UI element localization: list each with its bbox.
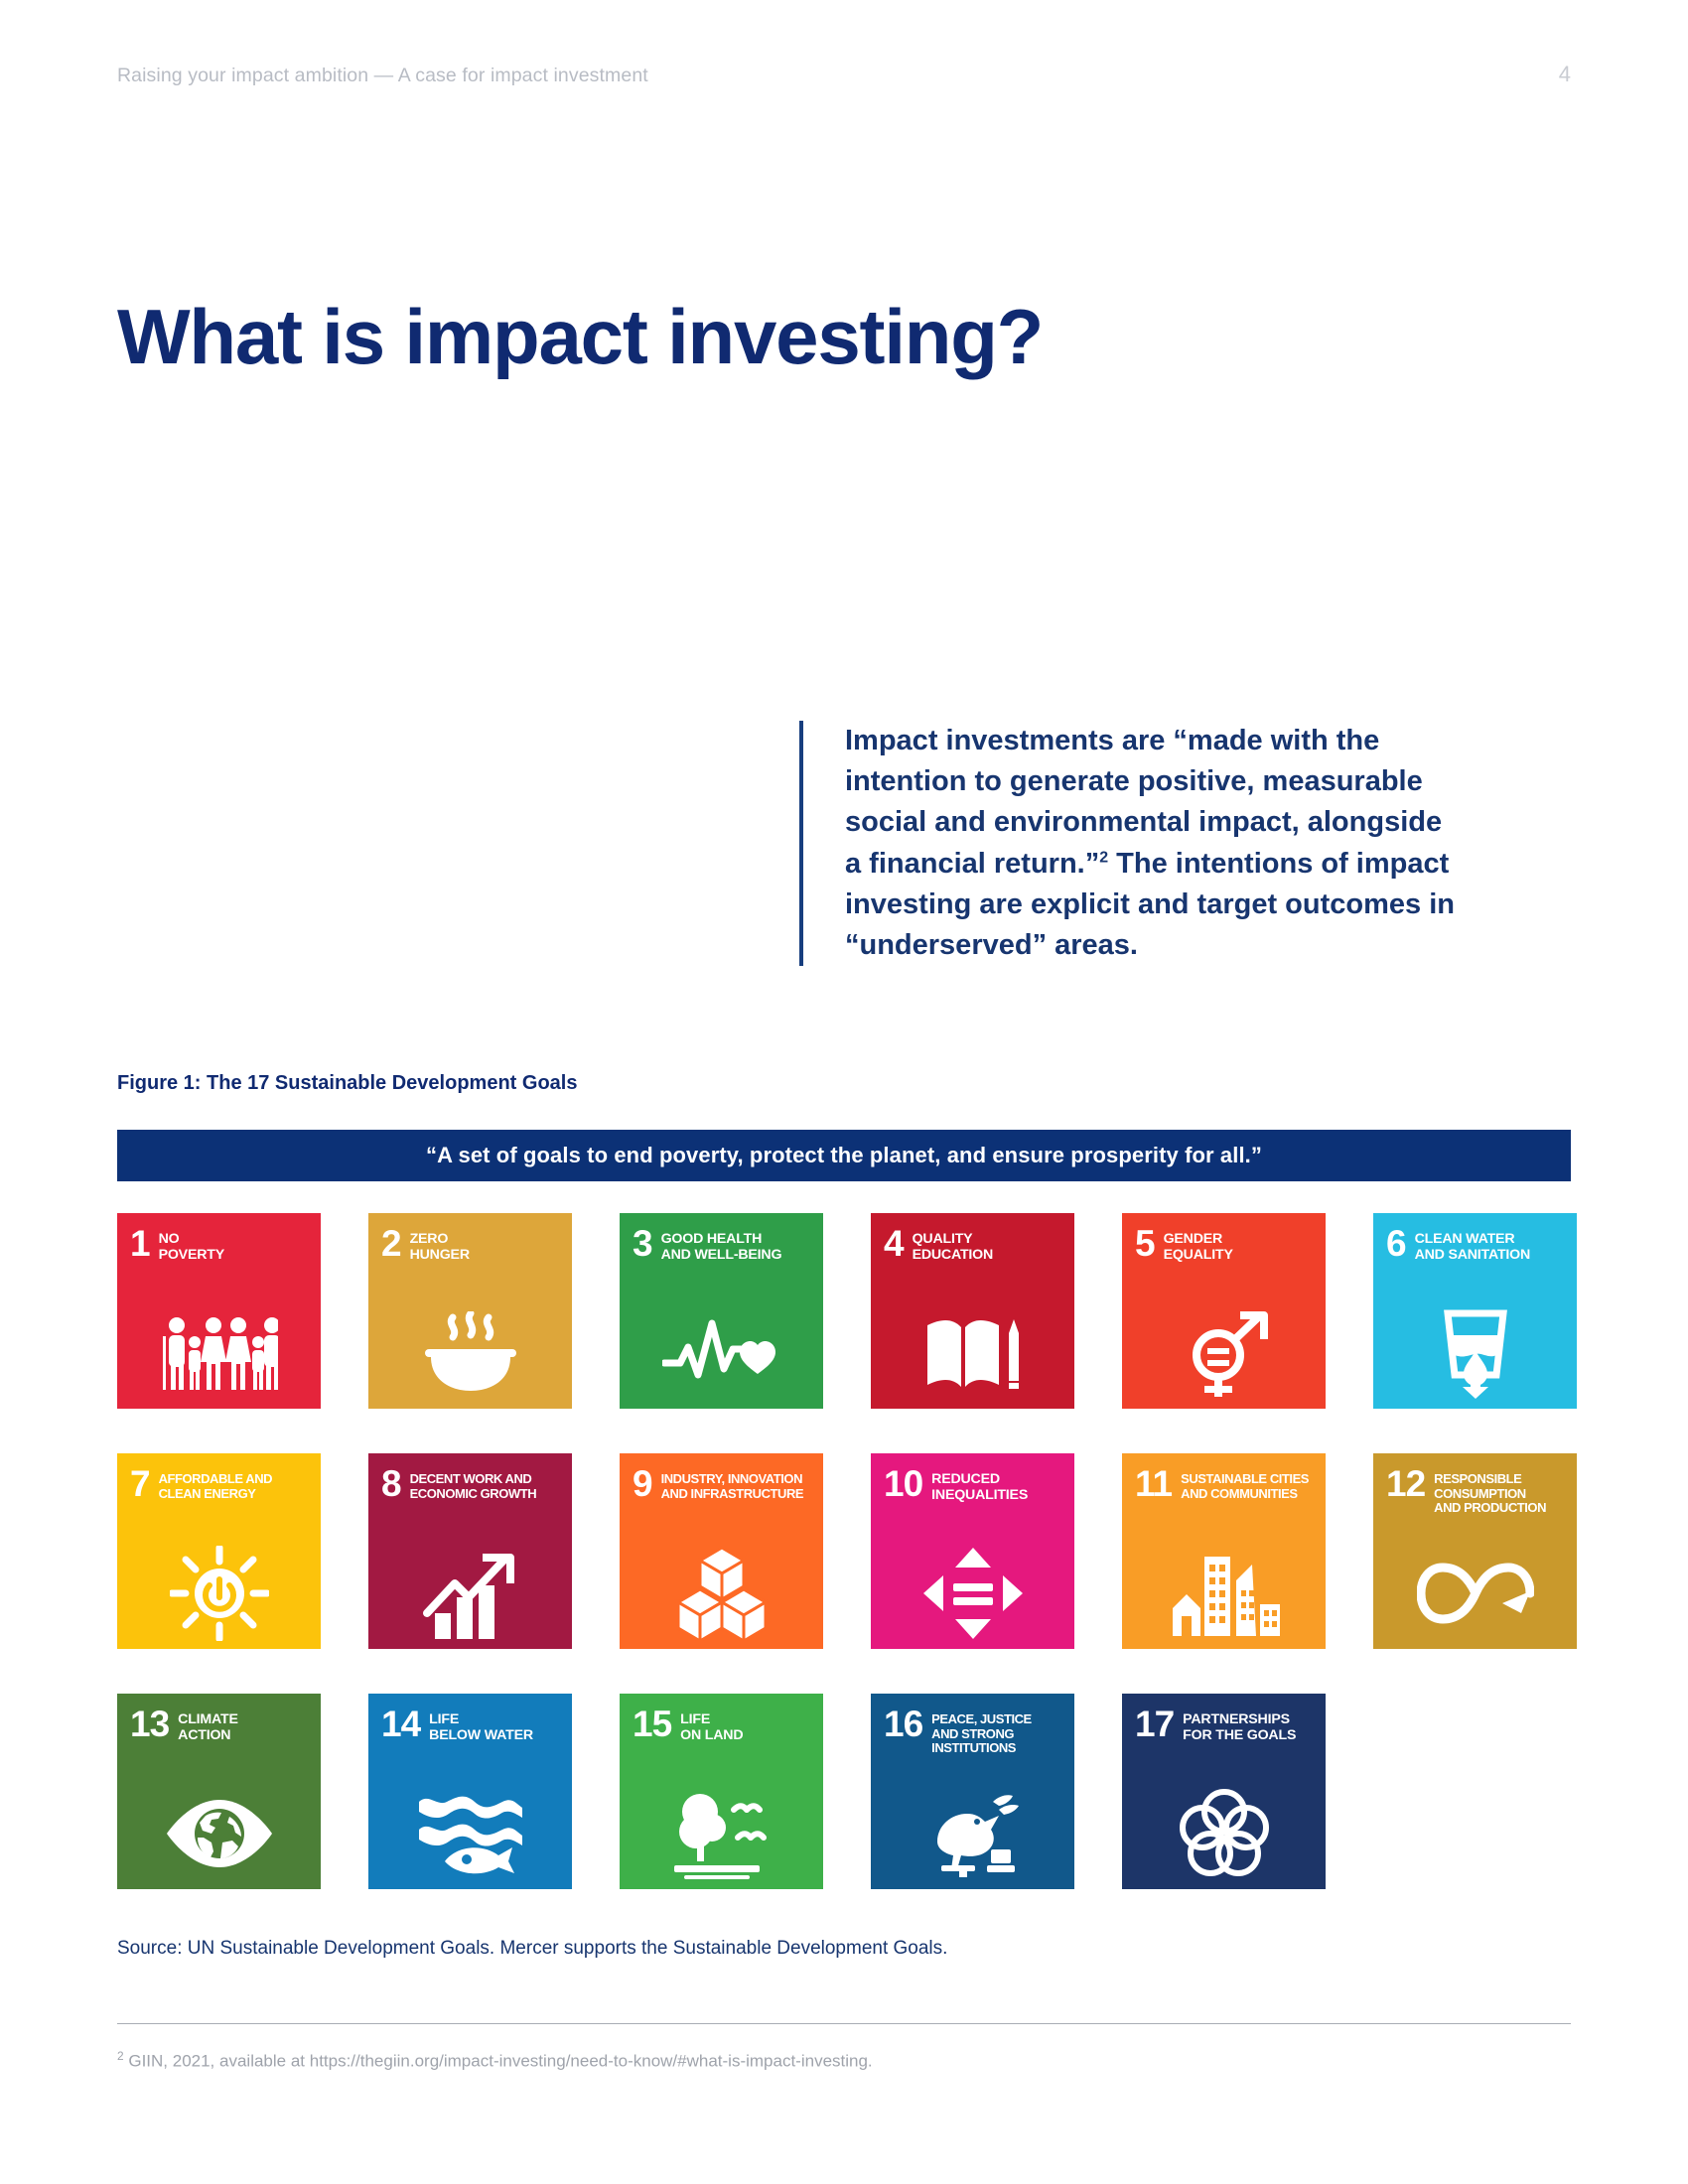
pullquote-block: Impact investments are “made with the in…: [799, 721, 1455, 966]
footnote-marker: 2: [117, 2049, 124, 2063]
sdg-label: REDUCEDINEQUALITIES: [931, 1469, 1028, 1504]
page-title: What is impact investing?: [117, 298, 1043, 375]
sdg-tile-header: 5GENDEREQUALITY: [1122, 1213, 1326, 1264]
sdg-number: 11: [1135, 1469, 1172, 1499]
sdg-tile-6: 6CLEAN WATERAND SANITATION: [1373, 1213, 1577, 1409]
sdg-tile-header: 9INDUSTRY, INNOVATIONAND INFRASTRUCTURE: [620, 1453, 823, 1501]
sdg-label: INDUSTRY, INNOVATIONAND INFRASTRUCTURE: [661, 1469, 804, 1501]
figure-banner-text: “A set of goals to end poverty, protect …: [426, 1143, 1262, 1168]
sdg-tile-header: 3GOOD HEALTHAND WELL-BEING: [620, 1213, 823, 1264]
sdg-tile-3: 3GOOD HEALTHAND WELL-BEING: [620, 1213, 823, 1409]
figure-banner: “A set of goals to end poverty, protect …: [117, 1130, 1571, 1181]
sdg-tile-16: 16PEACE, JUSTICEAND STRONGINSTITUTIONS: [871, 1694, 1074, 1889]
sdg-tile-header: 15LIFEON LAND: [620, 1694, 823, 1744]
sdg-number: 8: [381, 1469, 401, 1499]
sdg-number: 16: [884, 1709, 922, 1739]
sdg-tile-header: 8DECENT WORK ANDECONOMIC GROWTH: [368, 1453, 572, 1501]
sdg-label: AFFORDABLE ANDCLEAN ENERGY: [159, 1469, 273, 1501]
sdg-tile-4: 4QUALITYEDUCATION: [871, 1213, 1074, 1409]
sdg-tile-12: 12RESPONSIBLECONSUMPTIONAND PRODUCTION: [1373, 1453, 1577, 1649]
sdg-label: GOOD HEALTHAND WELL-BEING: [661, 1229, 782, 1264]
sdg-number: 5: [1135, 1229, 1155, 1259]
sdg-number: 6: [1386, 1229, 1406, 1259]
sdg-label: DECENT WORK ANDECONOMIC GROWTH: [410, 1469, 537, 1501]
sdg-tile-10: 10REDUCEDINEQUALITIES: [871, 1453, 1074, 1649]
heartbeat-icon: [620, 1305, 823, 1401]
sdg-tile-11: 11SUSTAINABLE CITIESAND COMMUNITIES: [1122, 1453, 1326, 1649]
sdg-number: 1: [130, 1229, 150, 1259]
sdg-tile-14: 14LIFEBELOW WATER: [368, 1694, 572, 1889]
sdg-number: 7: [130, 1469, 150, 1499]
footnote-text: GIIN, 2021, available at https://thegiin…: [124, 2052, 873, 2071]
family-icon: [117, 1305, 321, 1401]
document-page: Raising your impact ambition — A case fo…: [0, 0, 1688, 2184]
sdg-number: 15: [633, 1709, 671, 1739]
pullquote-footnote-marker: 2: [1099, 849, 1108, 866]
sdg-number: 10: [884, 1469, 922, 1499]
sdg-label: SUSTAINABLE CITIESAND COMMUNITIES: [1181, 1469, 1309, 1501]
cityscape-icon: [1122, 1546, 1326, 1641]
sdg-tile-1: 1NOPOVERTY: [117, 1213, 321, 1409]
sdg-label: ZEROHUNGER: [410, 1229, 470, 1264]
sdg-tile-9: 9INDUSTRY, INNOVATIONAND INFRASTRUCTURE: [620, 1453, 823, 1649]
sdg-label: CLIMATEACTION: [178, 1709, 238, 1744]
infinity-icon: [1373, 1546, 1577, 1641]
footnote: 2 GIIN, 2021, available at https://thegi…: [117, 2049, 873, 2072]
figure-source: Source: UN Sustainable Development Goals…: [117, 1938, 947, 1960]
sdg-label: PEACE, JUSTICEAND STRONGINSTITUTIONS: [931, 1709, 1032, 1756]
sdg-number: 9: [633, 1469, 652, 1499]
sdg-label: NOPOVERTY: [159, 1229, 224, 1264]
fish-waves-icon: [368, 1786, 572, 1881]
sdg-tile-8: 8DECENT WORK ANDECONOMIC GROWTH: [368, 1453, 572, 1649]
sdg-number: 2: [381, 1229, 401, 1259]
footnote-divider: [117, 2023, 1571, 2024]
sdg-label: QUALITYEDUCATION: [913, 1229, 993, 1264]
tree-birds-icon: [620, 1786, 823, 1881]
book-pencil-icon: [871, 1305, 1074, 1401]
sdg-number: 13: [130, 1709, 169, 1739]
eye-earth-icon: [117, 1786, 321, 1881]
sdg-label: LIFEBELOW WATER: [429, 1709, 533, 1744]
sdg-label: GENDEREQUALITY: [1164, 1229, 1233, 1264]
sdg-tile-header: 4QUALITYEDUCATION: [871, 1213, 1074, 1264]
running-header: Raising your impact ambition — A case fo…: [117, 62, 1571, 87]
sdg-tile-header: 12RESPONSIBLECONSUMPTIONAND PRODUCTION: [1373, 1453, 1577, 1516]
sdg-grid: 1NOPOVERTY 2ZEROHUNGER 3GOOD HEALTHAND W…: [117, 1213, 1571, 1889]
sdg-number: 14: [381, 1709, 420, 1739]
sdg-label: RESPONSIBLECONSUMPTIONAND PRODUCTION: [1434, 1469, 1546, 1516]
sdg-tile-2: 2ZEROHUNGER: [368, 1213, 572, 1409]
sdg-tile-header: 6CLEAN WATERAND SANITATION: [1373, 1213, 1577, 1264]
cubes-icon: [620, 1546, 823, 1641]
growth-chart-icon: [368, 1546, 572, 1641]
dove-gavel-icon: [871, 1786, 1074, 1881]
sdg-tile-header: 11SUSTAINABLE CITIESAND COMMUNITIES: [1122, 1453, 1326, 1501]
sdg-number: 12: [1386, 1469, 1425, 1499]
sdg-tile-header: 14LIFEBELOW WATER: [368, 1694, 572, 1744]
sdg-label: LIFEON LAND: [680, 1709, 743, 1744]
sdg-tile-header: 17PARTNERSHIPSFOR THE GOALS: [1122, 1694, 1326, 1744]
sdg-tile-15: 15LIFEON LAND: [620, 1694, 823, 1889]
sdg-tile-13: 13CLIMATEACTION: [117, 1694, 321, 1889]
water-glass-icon: [1373, 1305, 1577, 1401]
sdg-tile-header: 10REDUCEDINEQUALITIES: [871, 1453, 1074, 1504]
steaming-bowl-icon: [368, 1305, 572, 1401]
running-header-title: Raising your impact ambition — A case fo…: [117, 65, 648, 87]
sdg-number: 4: [884, 1229, 904, 1259]
sdg-tile-7: 7AFFORDABLE ANDCLEAN ENERGY: [117, 1453, 321, 1649]
sdg-tile-5: 5GENDEREQUALITY: [1122, 1213, 1326, 1409]
figure-caption: Figure 1: The 17 Sustainable Development…: [117, 1072, 577, 1095]
sdg-label: CLEAN WATERAND SANITATION: [1415, 1229, 1530, 1264]
interlocking-circles-icon: [1122, 1786, 1326, 1881]
sun-power-icon: [117, 1546, 321, 1641]
sdg-tile-header: 7AFFORDABLE ANDCLEAN ENERGY: [117, 1453, 321, 1501]
sdg-tile-header: 16PEACE, JUSTICEAND STRONGINSTITUTIONS: [871, 1694, 1074, 1756]
sdg-label: PARTNERSHIPSFOR THE GOALS: [1183, 1709, 1296, 1744]
gender-equality-icon: [1122, 1305, 1326, 1401]
pullquote-text: Impact investments are “made with the in…: [845, 721, 1455, 966]
sdg-number: 17: [1135, 1709, 1174, 1739]
sdg-tile-header: 1NOPOVERTY: [117, 1213, 321, 1264]
sdg-tile-17: 17PARTNERSHIPSFOR THE GOALS: [1122, 1694, 1326, 1889]
equals-arrows-icon: [871, 1546, 1074, 1641]
sdg-tile-header: 2ZEROHUNGER: [368, 1213, 572, 1264]
sdg-tile-header: 13CLIMATEACTION: [117, 1694, 321, 1744]
page-number: 4: [1559, 62, 1571, 87]
sdg-number: 3: [633, 1229, 652, 1259]
